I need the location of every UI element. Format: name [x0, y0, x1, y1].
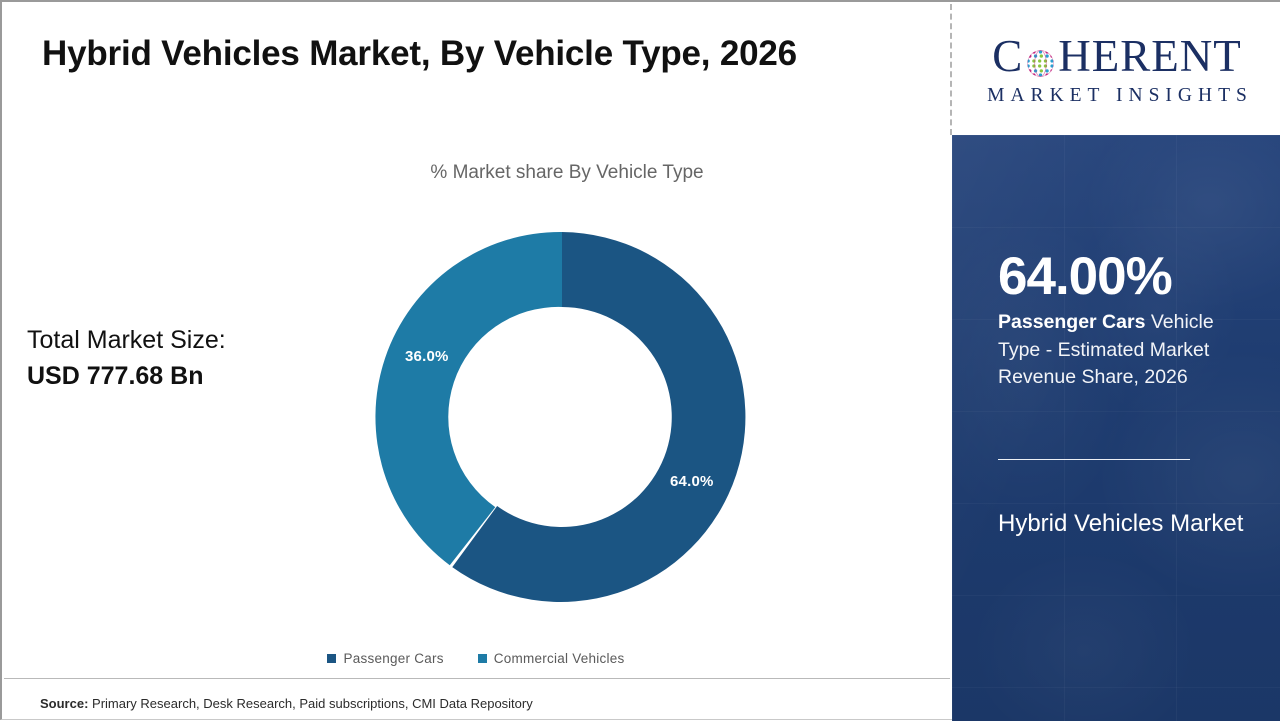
total-market-size-label: Total Market Size: — [27, 324, 327, 358]
infographic-canvas: Hybrid Vehicles Market, By Vehicle Type,… — [0, 0, 1280, 720]
slice-label-passenger-cars: 64.0% — [670, 473, 714, 490]
total-market-size-value: USD 777.68 Bn — [27, 358, 327, 394]
source-text: Primary Research, Desk Research, Paid su… — [88, 696, 532, 711]
panel-grid-overlay — [952, 135, 1280, 721]
panel-texture — [952, 135, 1280, 721]
chart-legend: Passenger Cars Commercial Vehicles — [2, 651, 950, 666]
legend-swatch-icon — [327, 654, 336, 663]
donut-chart-svg — [372, 227, 752, 607]
source-note: Source: Primary Research, Desk Research,… — [40, 696, 533, 711]
logo-tagline: MARKET INSIGHTS — [981, 86, 1253, 106]
slice-label-commercial-vehicles: 36.0% — [405, 348, 449, 365]
logo-wordmark: C — [992, 34, 1242, 79]
logo-letter-c: C — [992, 34, 1023, 79]
logo-letters-herent: HERENT — [1058, 34, 1241, 79]
page-title: Hybrid Vehicles Market, By Vehicle Type,… — [42, 34, 902, 74]
chart-pane: Hybrid Vehicles Market, By Vehicle Type,… — [2, 2, 950, 722]
stat-caption-highlight: Passenger Cars — [998, 311, 1145, 333]
highlight-panel: 64.00% Passenger Cars Vehicle Type - Est… — [952, 135, 1280, 721]
legend-item-commercial-vehicles[interactable]: Commercial Vehicles — [478, 651, 625, 666]
donut-chart: 36.0% 64.0% — [372, 227, 752, 607]
total-market-size-block: Total Market Size: USD 777.68 Bn — [27, 324, 327, 394]
donut-slice-commercial-vehicles[interactable] — [375, 232, 562, 565]
source-prefix: Source: — [40, 696, 88, 711]
stat-value: 64.00% — [998, 250, 1172, 303]
legend-label: Passenger Cars — [343, 651, 443, 666]
brand-logo: C — [952, 4, 1280, 135]
chart-subtitle: % Market share By Vehicle Type — [402, 162, 732, 184]
panel-divider — [998, 459, 1190, 460]
source-divider — [4, 678, 950, 679]
globe-dots-icon — [1024, 43, 1057, 76]
market-name: Hybrid Vehicles Market — [998, 503, 1250, 544]
legend-swatch-icon — [478, 654, 487, 663]
legend-item-passenger-cars[interactable]: Passenger Cars — [327, 651, 443, 666]
legend-label: Commercial Vehicles — [494, 651, 625, 666]
stat-caption: Passenger Cars Vehicle Type - Estimated … — [998, 309, 1248, 392]
